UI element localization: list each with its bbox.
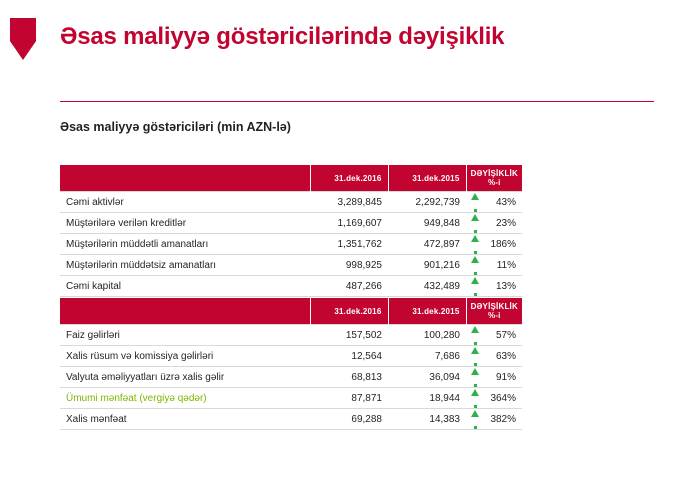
row-value-2015: 18,944 bbox=[388, 388, 466, 409]
row-label: Müştərilərin müddətli amanatları bbox=[60, 234, 310, 255]
arrow-up-icon bbox=[466, 367, 484, 388]
row-value-2015: 901,216 bbox=[388, 255, 466, 276]
table-header-row: 31.dek.2016 31.dek.2015 DƏYİŞİKLİK %-i bbox=[60, 165, 522, 192]
col-header-label bbox=[60, 165, 310, 192]
row-label: Ümumi mənfəat (vergiyə qədər) bbox=[60, 388, 310, 409]
row-value-2016: 487,266 bbox=[310, 276, 388, 297]
row-label: Faiz gəlirləri bbox=[60, 325, 310, 346]
row-label: Müştərilərin müddətsiz amanatları bbox=[60, 255, 310, 276]
page-header: Əsas maliyyə göstəricilərində dəyişiklik bbox=[0, 0, 700, 95]
row-change-pct: 364% bbox=[484, 388, 522, 409]
income-indicators-table: 31.dek.2016 31.dek.2015 DƏYİŞİKLİK %-i F… bbox=[60, 298, 522, 430]
row-value-2016: 998,925 bbox=[310, 255, 388, 276]
col-header-2015: 31.dek.2015 bbox=[388, 298, 466, 325]
arrow-up-icon bbox=[466, 276, 484, 297]
page-title: Əsas maliyyə göstəricilərində dəyişiklik bbox=[60, 23, 504, 51]
row-value-2016: 12,564 bbox=[310, 346, 388, 367]
section-title: Əsas maliyyə göstəriciləri (min AZN-lə) bbox=[60, 120, 291, 134]
row-label: Cəmi kapital bbox=[60, 276, 310, 297]
row-change-pct: 63% bbox=[484, 346, 522, 367]
row-value-2015: 472,897 bbox=[388, 234, 466, 255]
row-change-pct: 13% bbox=[484, 276, 522, 297]
arrow-up-icon bbox=[466, 234, 484, 255]
table-row: Xalis mənfəat 69,288 14,383 382% bbox=[60, 409, 522, 430]
header-divider bbox=[60, 101, 654, 102]
row-value-2015: 2,292,739 bbox=[388, 192, 466, 213]
arrow-up-icon bbox=[466, 255, 484, 276]
arrow-up-icon bbox=[466, 192, 484, 213]
arrow-up-icon bbox=[466, 388, 484, 409]
row-change-pct: 43% bbox=[484, 192, 522, 213]
row-value-2016: 157,502 bbox=[310, 325, 388, 346]
row-value-2015: 949,848 bbox=[388, 213, 466, 234]
row-change-pct: 91% bbox=[484, 367, 522, 388]
row-value-2015: 14,383 bbox=[388, 409, 466, 430]
row-change-pct: 57% bbox=[484, 325, 522, 346]
table-row: Valyuta əməliyyatları üzrə xalis gəlir 6… bbox=[60, 367, 522, 388]
col-header-change: DƏYİŞİKLİK %-i bbox=[466, 298, 522, 325]
table-row: Cəmi kapital 487,266 432,489 13% bbox=[60, 276, 522, 297]
row-value-2015: 36,094 bbox=[388, 367, 466, 388]
table-header: 31.dek.2016 31.dek.2015 DƏYİŞİKLİK %-i bbox=[60, 298, 522, 325]
row-label: Xalis rüsum və komissiya gəlirləri bbox=[60, 346, 310, 367]
row-value-2016: 3,289,845 bbox=[310, 192, 388, 213]
table-body: Cəmi aktivlər 3,289,845 2,292,739 43% Mü… bbox=[60, 192, 522, 297]
row-value-2016: 69,288 bbox=[310, 409, 388, 430]
table-row: Faiz gəlirləri 157,502 100,280 57% bbox=[60, 325, 522, 346]
arrow-up-icon bbox=[466, 409, 484, 430]
arrow-up-icon bbox=[466, 346, 484, 367]
col-header-change: DƏYİŞİKLİK %-i bbox=[466, 165, 522, 192]
row-value-2015: 7,686 bbox=[388, 346, 466, 367]
table-row: Müştərilərin müddətli amanatları 1,351,7… bbox=[60, 234, 522, 255]
table-row: Xalis rüsum və komissiya gəlirləri 12,56… bbox=[60, 346, 522, 367]
arrow-up-icon bbox=[466, 213, 484, 234]
row-change-pct: 186% bbox=[484, 234, 522, 255]
row-label: Cəmi aktivlər bbox=[60, 192, 310, 213]
row-value-2015: 100,280 bbox=[388, 325, 466, 346]
col-header-2016: 31.dek.2016 bbox=[310, 165, 388, 192]
row-value-2016: 68,813 bbox=[310, 367, 388, 388]
financial-indicators-table: 31.dek.2016 31.dek.2015 DƏYİŞİKLİK %-i C… bbox=[60, 165, 522, 297]
down-arrow-icon bbox=[10, 18, 36, 60]
row-label: Xalis mənfəat bbox=[60, 409, 310, 430]
table-row: Müştərilərə verilən kreditlər 1,169,607 … bbox=[60, 213, 522, 234]
table-row: Müştərilərin müddətsiz amanatları 998,92… bbox=[60, 255, 522, 276]
row-change-pct: 23% bbox=[484, 213, 522, 234]
table-header: 31.dek.2016 31.dek.2015 DƏYİŞİKLİK %-i bbox=[60, 165, 522, 192]
table-body: Faiz gəlirləri 157,502 100,280 57% Xalis… bbox=[60, 325, 522, 430]
table-row-highlighted: Ümumi mənfəat (vergiyə qədər) 87,871 18,… bbox=[60, 388, 522, 409]
row-change-pct: 382% bbox=[484, 409, 522, 430]
row-value-2016: 1,169,607 bbox=[310, 213, 388, 234]
row-change-pct: 11% bbox=[484, 255, 522, 276]
col-header-2016: 31.dek.2016 bbox=[310, 298, 388, 325]
arrow-up-icon bbox=[466, 325, 484, 346]
row-value-2015: 432,489 bbox=[388, 276, 466, 297]
row-label: Müştərilərə verilən kreditlər bbox=[60, 213, 310, 234]
table-header-row: 31.dek.2016 31.dek.2015 DƏYİŞİKLİK %-i bbox=[60, 298, 522, 325]
col-header-2015: 31.dek.2015 bbox=[388, 165, 466, 192]
row-value-2016: 1,351,762 bbox=[310, 234, 388, 255]
table-row: Cəmi aktivlər 3,289,845 2,292,739 43% bbox=[60, 192, 522, 213]
row-label: Valyuta əməliyyatları üzrə xalis gəlir bbox=[60, 367, 310, 388]
col-header-label bbox=[60, 298, 310, 325]
row-value-2016: 87,871 bbox=[310, 388, 388, 409]
